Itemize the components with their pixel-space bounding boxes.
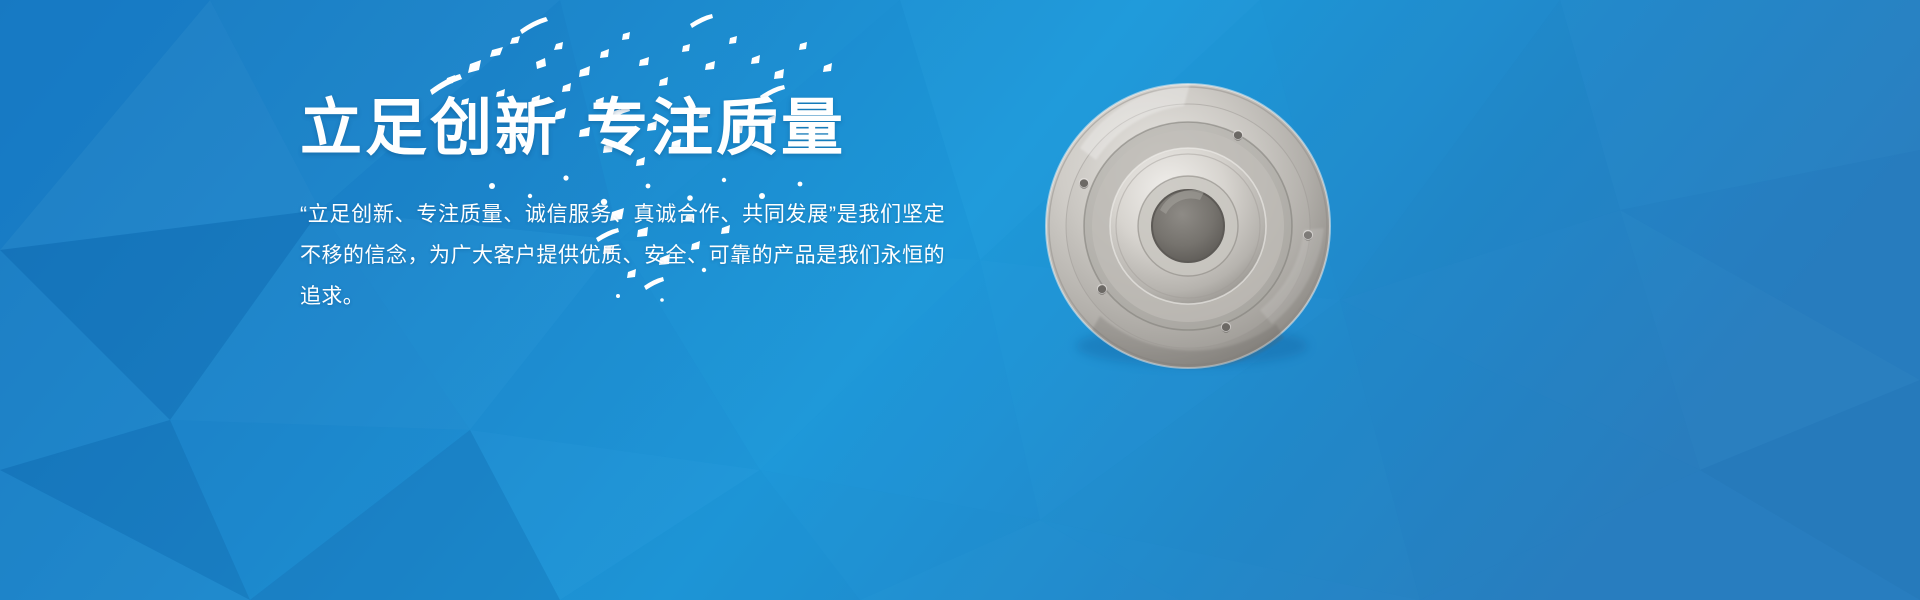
product-photo-flange [1040, 78, 1340, 378]
banner-body-copy: “立足创新、专注质量、诚信服务、真诚合作、共同发展”是我们坚定不移的信念，为广大… [300, 194, 945, 317]
banner-copy: 立足创新专注质量 “立足创新、专注质量、诚信服务、真诚合作、共同发展”是我们坚定… [300, 98, 960, 317]
headline-part-1: 立足创新 [300, 94, 560, 163]
banner-headline: 立足创新专注质量 [300, 98, 960, 160]
background-facets [0, 0, 1920, 600]
banner-body-text: “立足创新、专注质量、诚信服务、真诚合作、共同发展”是我们坚定不移的信念，为广大… [300, 194, 945, 317]
headline-part-2: 专注质量 [586, 94, 846, 163]
hero-banner: 立足创新专注质量 “立足创新、专注质量、诚信服务、真诚合作、共同发展”是我们坚定… [0, 0, 1920, 600]
